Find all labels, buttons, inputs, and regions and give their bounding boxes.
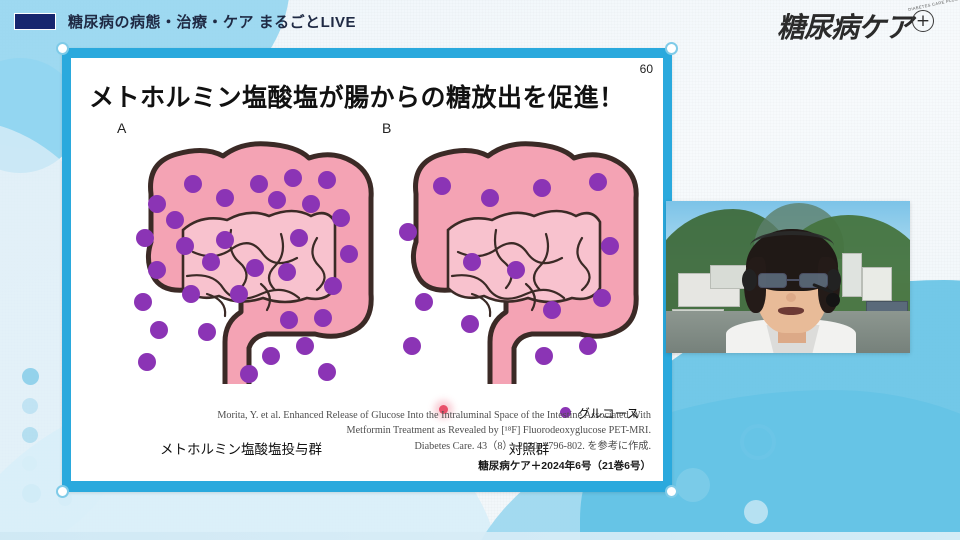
- figure-panels: A: [71, 120, 663, 450]
- video-background-building-4: [862, 267, 892, 301]
- presenter-mouth: [778, 307, 804, 315]
- citation-line-1: Morita, Y. et al. Enhanced Release of Gl…: [111, 408, 651, 424]
- intestine-diagram-a: [121, 134, 391, 384]
- decor-dot-2: [22, 398, 38, 414]
- headset-earcup-left: [742, 269, 757, 291]
- lens-left: [758, 273, 787, 288]
- intestine-diagram-b: [386, 134, 656, 384]
- resize-handle-top-right[interactable]: [665, 42, 678, 55]
- panel-a: A: [111, 120, 391, 420]
- program-title: 糖尿病の病態・治療・ケア まるごとLIVE: [68, 11, 356, 32]
- citation-block: Morita, Y. et al. Enhanced Release of Gl…: [111, 408, 651, 455]
- issue-credit: 糖尿病ケア＋2024年6号（21巻6号）: [478, 458, 651, 473]
- decor-dot-7: [676, 468, 710, 502]
- citation-line-2: Metformin Treatment as Revealed by [¹⁸F]…: [111, 423, 651, 439]
- panel-b: B: [376, 120, 656, 420]
- brand-name: 糖尿病ケア: [777, 6, 912, 46]
- resize-handle-top-left[interactable]: [56, 42, 69, 55]
- plus-badge-icon: DIABETES CARE PLUS +: [910, 8, 936, 34]
- presenter-nose: [786, 293, 796, 302]
- resize-handle-bottom-right[interactable]: [665, 485, 678, 498]
- glasses-bridge: [787, 279, 799, 281]
- brand-logo: 糖尿病ケア DIABETES CARE PLUS +: [777, 6, 936, 46]
- slide-page-number: 60: [640, 62, 653, 76]
- decor-dot-8: [744, 500, 768, 524]
- citation-line-3: Diabetes Care. 43（8）, 2020, 1796-802. を参…: [111, 439, 651, 455]
- slide-frame[interactable]: 60 メトホルミン塩酸塩が腸からの糖放出を促進！ A: [62, 48, 672, 492]
- navy-rectangle-icon: [14, 13, 56, 30]
- video-background-building-3: [842, 253, 862, 297]
- decor-dot-1: [22, 368, 39, 385]
- presenter-video-tile[interactable]: [666, 201, 910, 353]
- decor-bottom-band: [0, 532, 960, 540]
- resize-handle-bottom-left[interactable]: [56, 485, 69, 498]
- headset-band-icon: [750, 231, 834, 261]
- plus-symbol: +: [910, 8, 936, 34]
- slide-title: メトホルミン塩酸塩が腸からの糖放出を促進！: [89, 78, 647, 114]
- headset-earcup-right: [826, 269, 841, 291]
- broadcast-screen: 糖尿病の病態・治療・ケア まるごとLIVE 糖尿病ケア DIABETES CAR…: [0, 0, 960, 540]
- decor-ring-icon: [740, 424, 776, 460]
- decor-dot-3: [22, 427, 38, 443]
- slide-content: 60 メトホルミン塩酸塩が腸からの糖放出を促進！ A: [71, 58, 663, 481]
- microphone-icon: [826, 293, 840, 307]
